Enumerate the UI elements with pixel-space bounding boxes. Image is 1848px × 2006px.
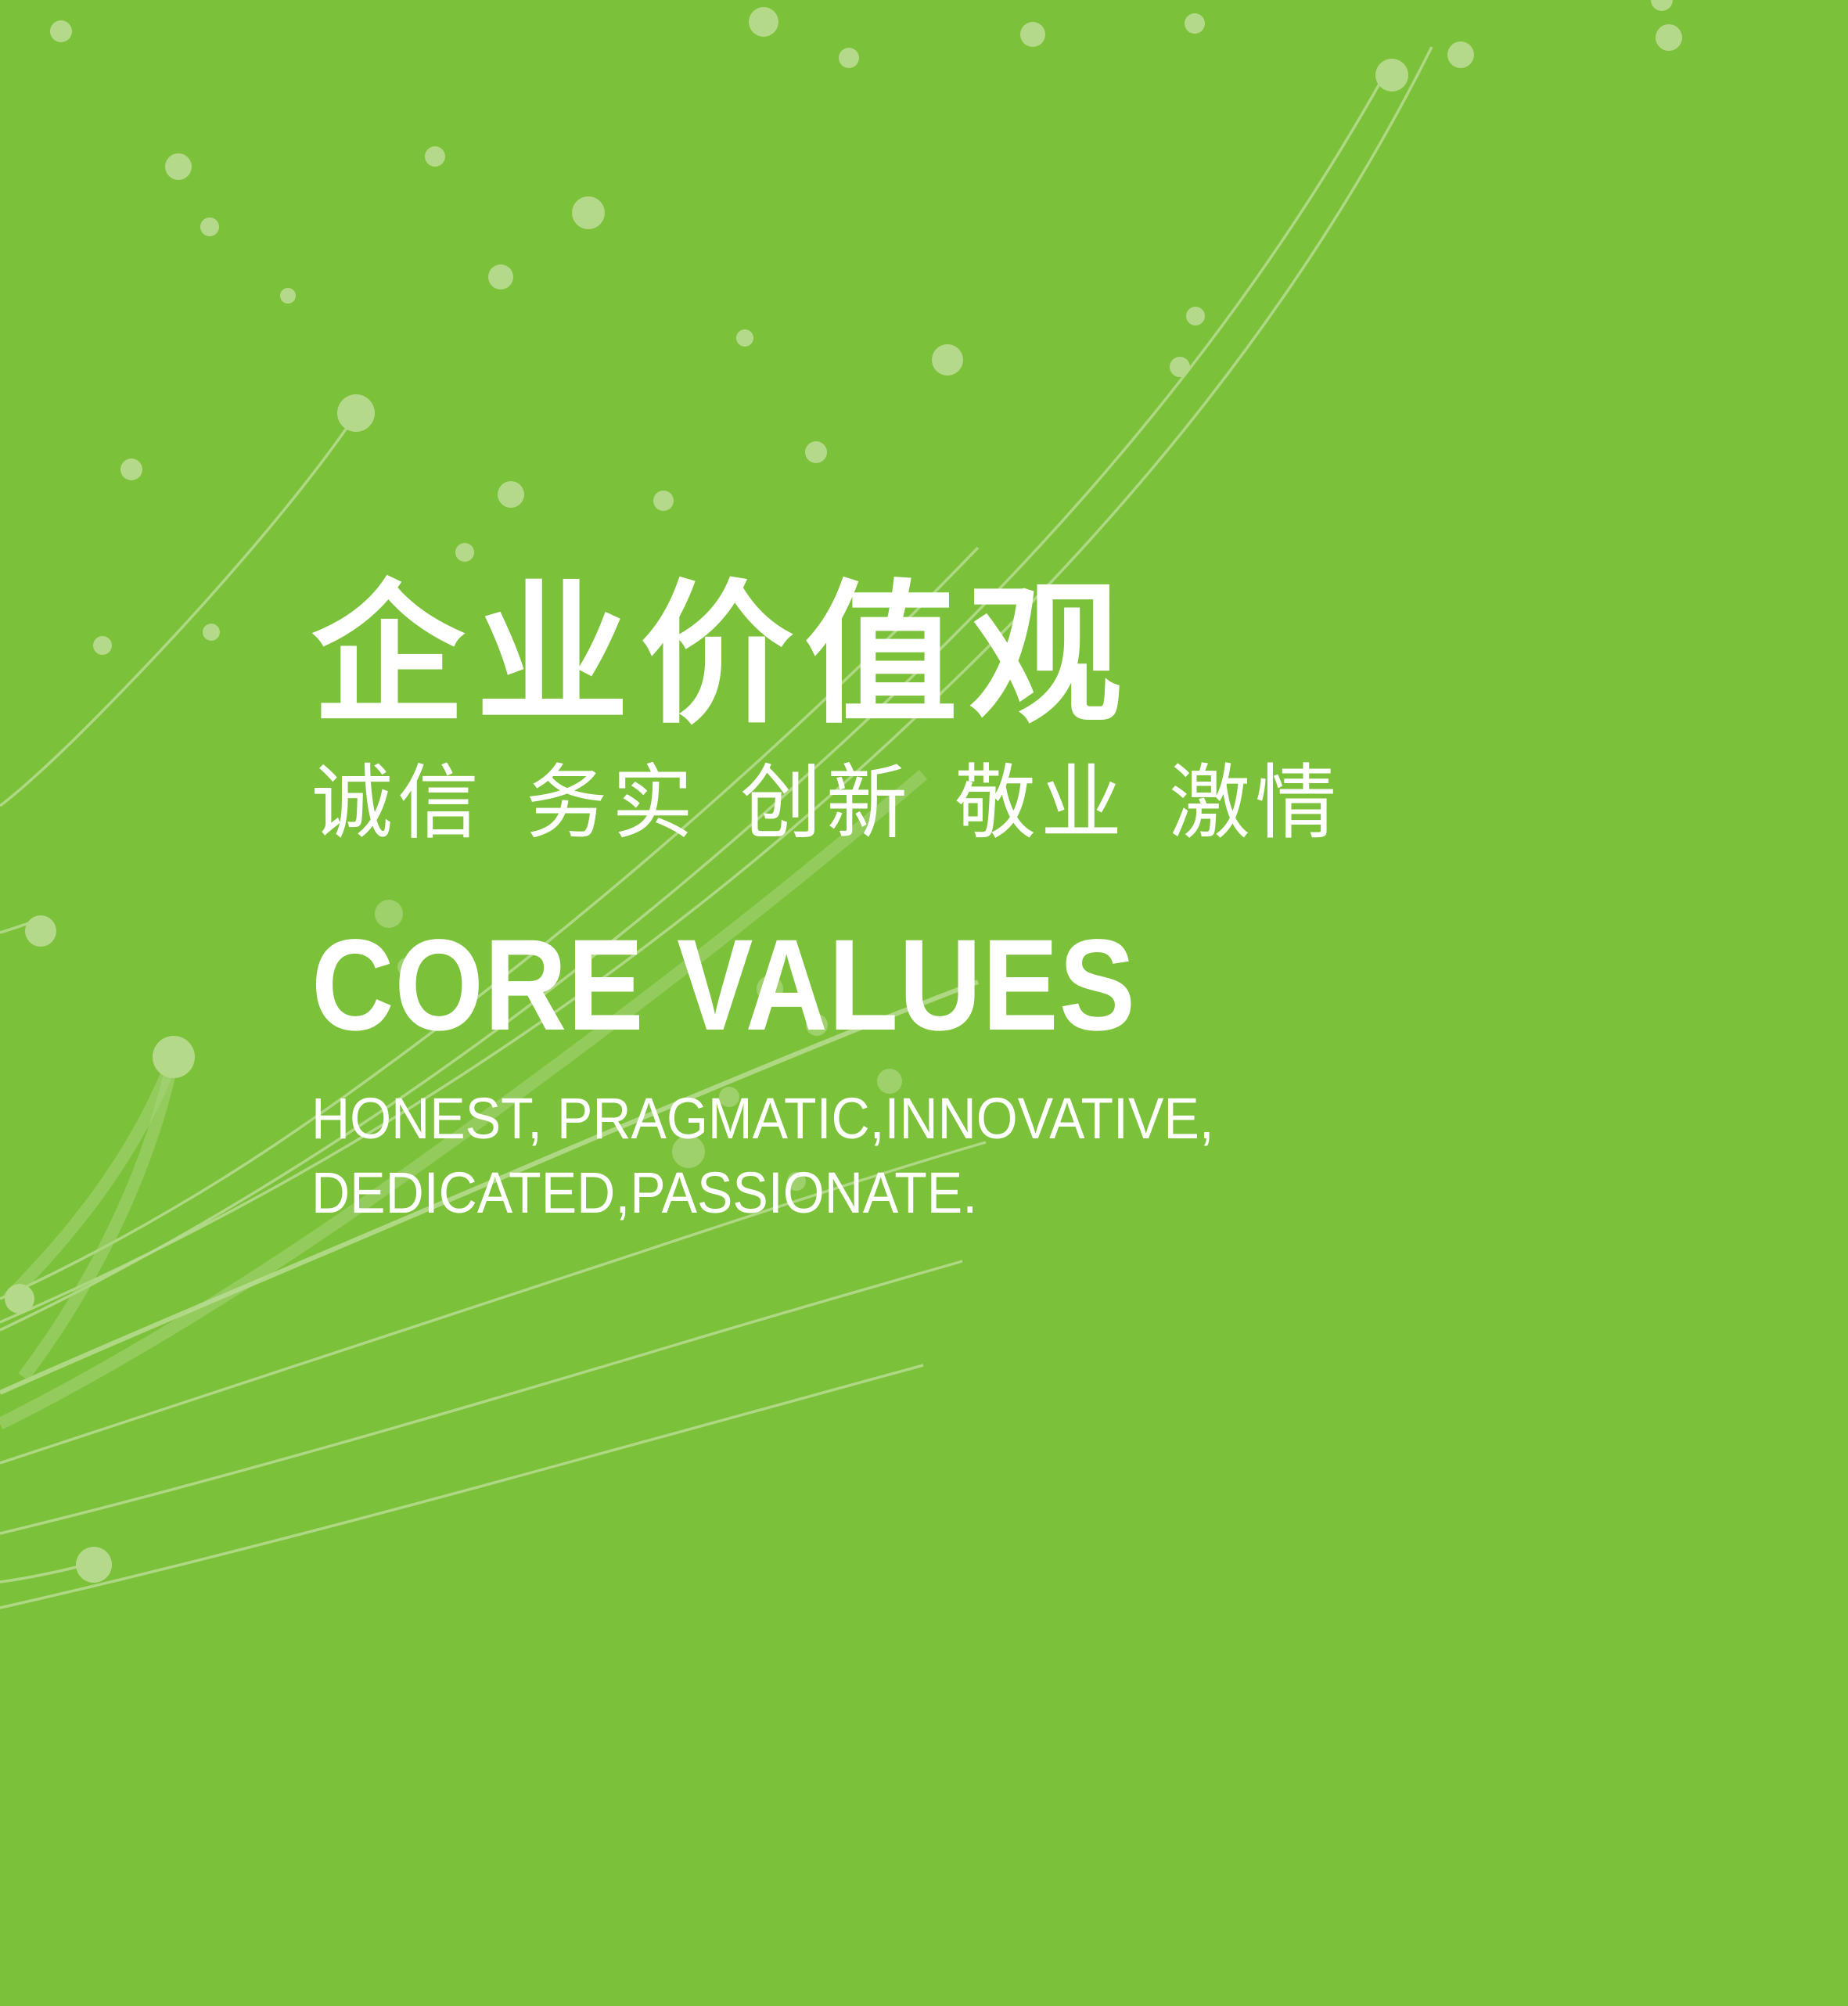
value-word-dedicated: 敬业 bbox=[955, 758, 1127, 849]
curve-topleft-2 bbox=[0, 919, 41, 933]
node-dot bbox=[1186, 307, 1205, 325]
subtitle-english: HONEST, PRAGMATIC,INNOVATIVE, DEDICATED,… bbox=[311, 1082, 1607, 1230]
curve-node-connector-left bbox=[8, 1057, 174, 1299]
subtitle-english-line-2: DEDICATED,PASSIONATE. bbox=[311, 1156, 1607, 1231]
node-dot bbox=[165, 153, 192, 180]
value-word-pragmatic: 务实 bbox=[526, 758, 698, 849]
node-dot bbox=[25, 915, 56, 947]
node-dot bbox=[203, 624, 220, 641]
node-dot bbox=[425, 146, 445, 167]
node-dot bbox=[805, 441, 827, 463]
node-dot bbox=[1651, 0, 1673, 11]
headline-chinese: 企业价值观 bbox=[311, 579, 1720, 732]
curve-left-bundle-3 bbox=[0, 1261, 962, 1533]
curve-left-bundle-4 bbox=[0, 1365, 923, 1608]
node-dot bbox=[280, 288, 296, 304]
node-dot bbox=[1020, 22, 1045, 47]
node-dot bbox=[1170, 357, 1190, 377]
node-dot bbox=[337, 394, 375, 432]
node-dot bbox=[498, 481, 524, 508]
node-dot bbox=[932, 344, 963, 376]
curve-bottomleft-1 bbox=[0, 1565, 86, 1582]
value-word-integrity: 诚信 bbox=[311, 758, 484, 849]
node-dot bbox=[5, 1284, 34, 1314]
node-dot bbox=[749, 7, 778, 37]
node-dot bbox=[200, 217, 219, 236]
poster-content: 企业价值观 诚信务实创新敬业激情 CORE VALUES HONEST, PRA… bbox=[311, 579, 1720, 1230]
core-values-poster: .ln { fill:none; stroke:#b9dc92; stroke-… bbox=[0, 0, 1848, 2006]
node-dot bbox=[488, 264, 513, 289]
node-dot bbox=[1447, 41, 1474, 68]
node-dot bbox=[1185, 13, 1205, 34]
node-dot bbox=[653, 491, 674, 511]
subtitle-chinese: 诚信务实创新敬业激情 bbox=[311, 754, 1720, 854]
node-dot bbox=[153, 1036, 195, 1078]
node-dot bbox=[76, 1547, 112, 1583]
node-dot bbox=[839, 48, 859, 68]
curve-node-connector-left-2 bbox=[23, 1057, 174, 1377]
node-dot bbox=[736, 329, 753, 347]
node-dot bbox=[50, 20, 72, 42]
value-word-passionate: 激情 bbox=[1169, 758, 1341, 849]
headline-english: CORE VALUES bbox=[311, 921, 1551, 1051]
node-dot bbox=[572, 196, 605, 229]
curve-topleft-1 bbox=[0, 415, 356, 806]
node-dot bbox=[455, 543, 474, 562]
node-dot bbox=[93, 636, 112, 655]
subtitle-english-line-1: HONEST, PRAGMATIC,INNOVATIVE, bbox=[311, 1082, 1607, 1156]
value-word-innovative: 创新 bbox=[740, 758, 912, 849]
node-dot bbox=[1656, 24, 1682, 51]
node-dot bbox=[120, 458, 142, 480]
node-dot bbox=[1375, 59, 1408, 92]
